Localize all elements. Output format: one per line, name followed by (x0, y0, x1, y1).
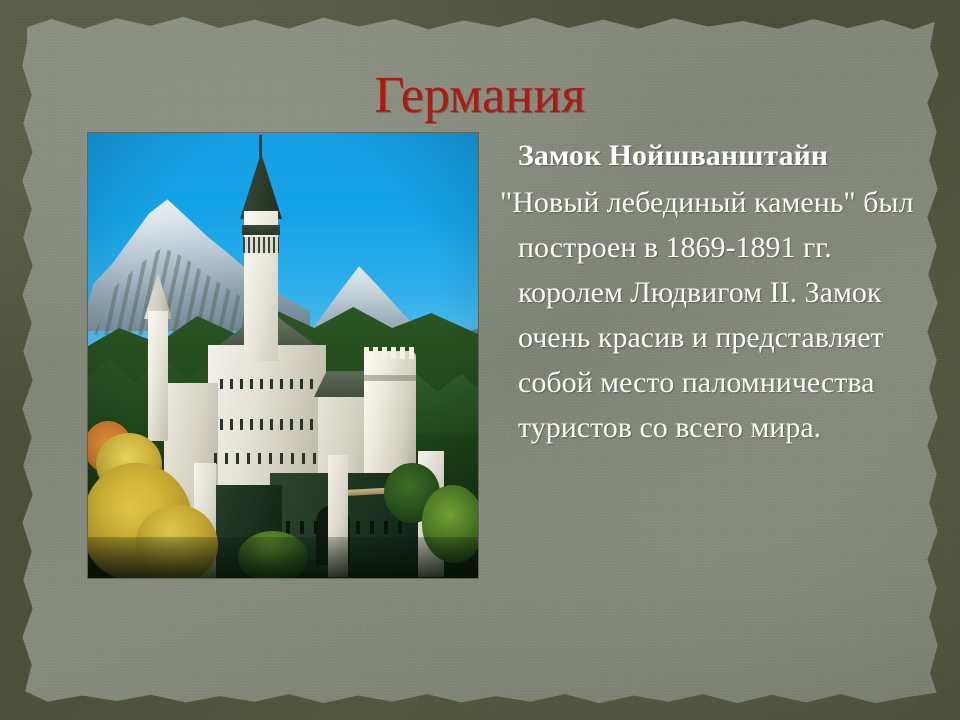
keep-tower-arcade (243, 237, 279, 253)
round-tower-battlements (364, 347, 416, 359)
presentation-slide: Германия (0, 0, 960, 720)
slide-text-column: Замок Нойшванштайн "Новый лебединый каме… (500, 138, 920, 450)
foreground-shadow (88, 537, 478, 578)
keep-spire-finial (259, 135, 262, 157)
window-row-middle (220, 419, 314, 430)
neuschwanstein-castle-photo (88, 133, 478, 578)
castle-name-heading: Замок Нойшванштайн (518, 138, 920, 174)
castle-description-text: "Новый лебединый камень" был построен в … (500, 180, 920, 450)
keep-tower-band (242, 225, 280, 235)
slim-tower (148, 311, 168, 441)
round-tower-band (364, 375, 416, 381)
window-row-lower (214, 453, 318, 464)
window-row-upper (220, 379, 314, 389)
slide-title: Германия (0, 67, 960, 125)
